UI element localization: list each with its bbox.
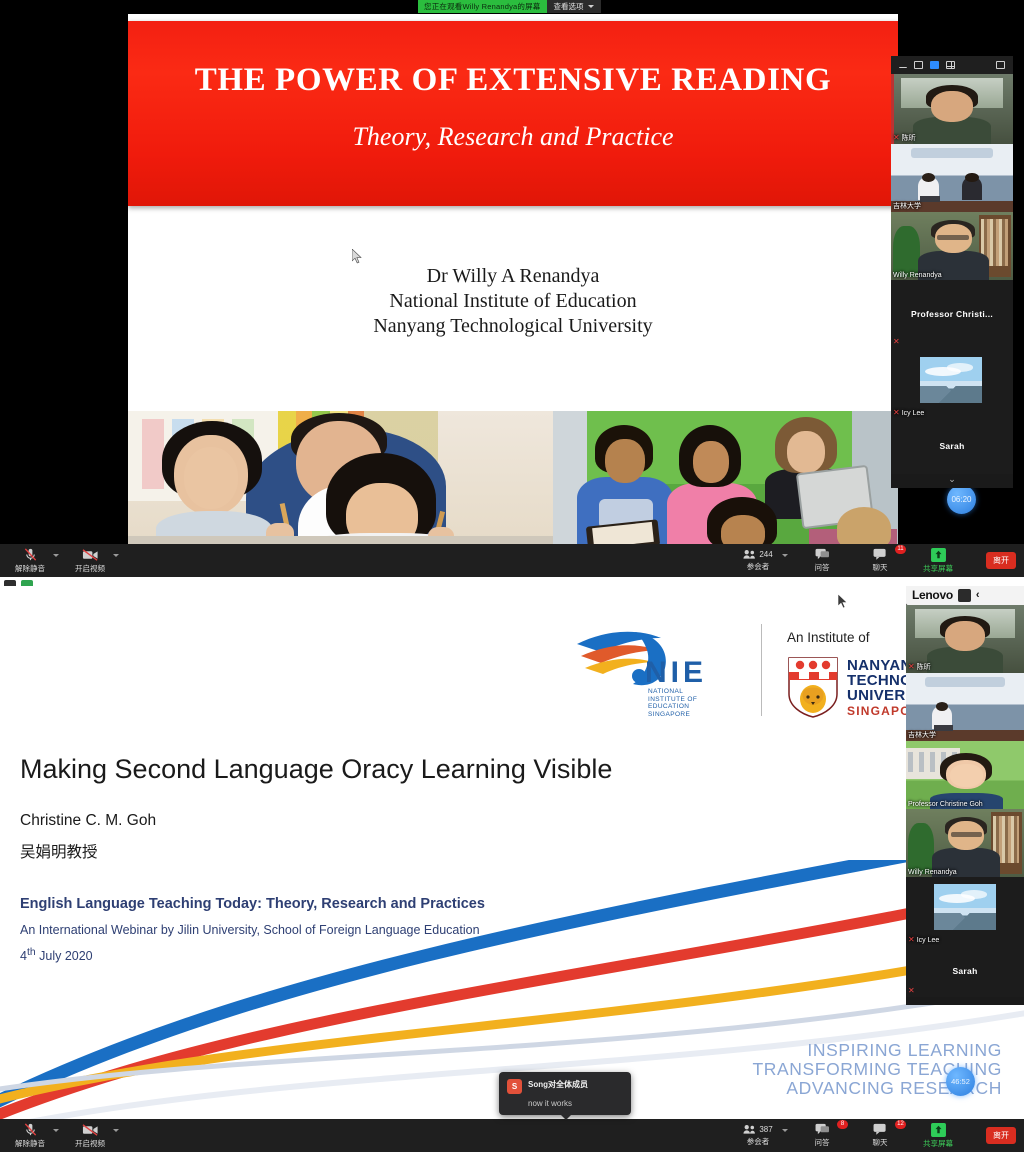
participants-label: 参会者 <box>747 561 770 572</box>
leave-meeting-button[interactable]: 离开 <box>986 552 1016 569</box>
qa-icon <box>815 548 830 561</box>
video-tile[interactable]: ✕ Icy Lee <box>891 348 1013 418</box>
presenter-org1: National Institute of Education <box>128 289 898 314</box>
slide-date: 4th July 2020 <box>20 947 93 963</box>
gallery-view-icon[interactable] <box>946 61 955 69</box>
speaker-view-icon[interactable] <box>914 61 923 69</box>
participants-button[interactable]: 387 参会者 <box>732 1119 784 1152</box>
chat-sender-name: Song对全体成员 <box>528 1079 588 1090</box>
slide-title: Making Second Language Oracy Learning Vi… <box>20 754 612 785</box>
shared-slide-oracy: NIE NATIONALINSTITUTE OFEDUCATIONSINGAPO… <box>0 586 1024 1120</box>
mic-muted-icon: ✕ <box>908 663 915 671</box>
mouse-cursor <box>838 594 849 609</box>
share-label: 共享屏幕 <box>923 563 953 574</box>
lenovo-label: Lenovo <box>912 588 953 602</box>
qa-label: 问答 <box>815 562 830 573</box>
slide-title-band <box>128 21 898 206</box>
participants-count: 244 <box>759 550 772 559</box>
start-video-button[interactable]: 开启视频 <box>70 544 110 577</box>
chat-icon <box>873 548 888 561</box>
chevron-up-icon[interactable] <box>782 1129 788 1132</box>
video-tile[interactable]: Sarah ✕ <box>906 945 1024 997</box>
video-tile-name: Professor Christi... <box>911 309 993 319</box>
video-tile-name: Willy Renandya <box>908 869 957 876</box>
institute-prefix: An Institute of <box>787 630 870 645</box>
video-tile[interactable]: Willy Renandya <box>891 212 1013 280</box>
slide-author-en: Christine C. M. Goh <box>20 812 156 830</box>
ntu-crest-icon <box>787 656 839 718</box>
nie-logo: NIE NATIONALINSTITUTE OFEDUCATIONSINGAPO… <box>575 626 740 718</box>
nie-subtitle: NATIONALINSTITUTE OFEDUCATIONSINGAPORE <box>648 688 697 718</box>
share-screen-icon <box>931 548 946 562</box>
video-muted-icon <box>82 548 99 562</box>
mic-muted-icon: ✕ <box>908 987 915 995</box>
classroom-photo-right <box>553 411 898 544</box>
chevron-up-icon[interactable] <box>53 1129 59 1132</box>
meeting-timer-badge: 46:52 <box>946 1067 975 1096</box>
presenter-org2: Nanyang Technological University <box>128 314 898 339</box>
video-tile[interactable]: Professor Christi... ✕ <box>891 280 1013 348</box>
mic-muted-icon: ✕ <box>893 134 900 142</box>
zoom-window-top: 您正在观看Willy Renandya的屏幕 查看选项 THE POWER OF… <box>0 0 1024 586</box>
meeting-toolbar-bottom: 解除静音 开启视频 387 参会者 问答 8 <box>0 1119 1024 1152</box>
slide-title: THE POWER OF EXTENSIVE READING <box>128 62 898 99</box>
view-options-label: 查看选项 <box>554 1 584 12</box>
chevron-up-icon[interactable] <box>782 554 788 557</box>
video-panel-top: ✕ 陈昕 吉林大学 Willy Renandya Professor Chris… <box>891 56 1013 488</box>
mute-label: 解除静音 <box>15 1138 45 1149</box>
view-banner-top: 您正在观看Willy Renandya的屏幕 查看选项 <box>418 0 601 13</box>
video-tile-name: ✕ Icy Lee <box>893 409 924 417</box>
video-tile-name: Willy Renandya <box>893 272 942 279</box>
slide-event-title: English Language Teaching Today: Theory,… <box>20 896 485 912</box>
popout-icon[interactable] <box>996 61 1005 69</box>
collapse-chevron-icon[interactable]: ‹ <box>976 589 980 601</box>
slide-photo-strip <box>128 411 898 544</box>
share-screen-button[interactable]: 共享屏幕 <box>918 544 958 577</box>
chat-message-text: now it works <box>528 1099 623 1108</box>
share-label: 共享屏幕 <box>923 1138 953 1149</box>
chat-unread-badge: 11 <box>895 545 906 554</box>
leave-meeting-button[interactable]: 离开 <box>986 1127 1016 1144</box>
microphone-muted-icon <box>23 547 38 562</box>
qa-label: 问答 <box>815 1137 830 1148</box>
participants-count: 387 <box>759 1125 772 1134</box>
video-tile[interactable]: ✕ 陈昕 <box>906 605 1024 673</box>
chat-label: 聊天 <box>873 562 888 573</box>
chat-sender-avatar: S <box>507 1079 522 1094</box>
qa-button[interactable]: 问答 <box>802 544 842 577</box>
share-screen-button[interactable]: 共享屏幕 <box>918 1119 958 1152</box>
participants-icon <box>743 549 756 560</box>
lenovo-glyph-icon <box>958 589 971 602</box>
video-tile[interactable]: ✕ Icy Lee <box>906 877 1024 945</box>
minimize-icon[interactable] <box>899 63 907 68</box>
qa-button[interactable]: 问答 8 <box>802 1119 842 1152</box>
view-options-button[interactable]: 查看选项 <box>547 0 601 13</box>
slide-host: An International Webinar by Jilin Univer… <box>20 923 480 937</box>
chat-unread-badge: 12 <box>895 1120 906 1129</box>
mute-button[interactable]: 解除静音 <box>10 544 50 577</box>
slide-subtitle: Theory, Research and Practice <box>128 122 898 152</box>
participants-icon <box>743 1124 756 1135</box>
video-tile[interactable]: ✕ 陈昕 <box>891 74 1013 144</box>
scroll-down-chevron-icon[interactable]: ⌄ <box>891 474 1013 485</box>
video-tile-name: Professor Christine Goh <box>908 801 983 808</box>
video-tile-name: Sarah <box>939 441 964 451</box>
video-label: 开启视频 <box>75 563 105 574</box>
chevron-down-icon <box>588 5 594 8</box>
classroom-photo-left <box>128 411 553 544</box>
video-tile[interactable]: Professor Christine Goh <box>906 741 1024 809</box>
chat-button[interactable]: 聊天 12 <box>860 1119 900 1152</box>
mouse-cursor <box>352 249 363 264</box>
video-tile[interactable]: Sarah <box>891 418 1013 474</box>
toast-tail <box>561 1115 571 1120</box>
desktop-strip-top <box>0 577 1024 586</box>
chat-button[interactable]: 聊天 11 <box>860 544 900 577</box>
video-muted-icon <box>82 1123 99 1137</box>
video-tile-name: ✕ 陈昕 <box>908 662 931 672</box>
video-tile-name: 吉林大学 <box>893 201 921 211</box>
chevron-up-icon[interactable] <box>113 1129 119 1132</box>
chat-icon <box>873 1123 888 1136</box>
lenovo-brand-overlay: Lenovo ‹ <box>906 586 1024 605</box>
meeting-toolbar-top: 解除静音 开启视频 244 参会者 问答 <box>0 544 1024 577</box>
video-tile-name: ✕ Icy Lee <box>908 936 939 944</box>
chat-label: 聊天 <box>873 1137 888 1148</box>
video-panel-bottom: Lenovo ‹ ✕ 陈昕 吉林大学 Professor Christine G… <box>906 586 1024 1005</box>
video-tile[interactable]: 吉林大学 <box>906 673 1024 741</box>
presenter-name: Dr Willy A Renandya <box>128 264 898 289</box>
mute-button[interactable]: 解除静音 <box>10 1119 50 1152</box>
mic-muted-icon: ✕ <box>908 936 915 944</box>
video-tile-name: ✕ 陈昕 <box>893 133 916 143</box>
zoom-window-bottom: NIE NATIONALINSTITUTE OFEDUCATIONSINGAPO… <box>0 586 1024 1152</box>
participants-button[interactable]: 244 参会者 <box>732 544 784 577</box>
slide-author-cn: 吴娟明教授 <box>20 840 98 862</box>
chat-notification-toast[interactable]: S Song对全体成员 now it works <box>499 1072 631 1115</box>
start-video-button[interactable]: 开启视频 <box>70 1119 110 1152</box>
chevron-up-icon[interactable] <box>113 554 119 557</box>
shared-slide-extensive-reading: THE POWER OF EXTENSIVE READING Theory, R… <box>128 14 898 549</box>
video-tile-name: 吉林大学 <box>908 730 936 740</box>
meeting-timer-badge: 06:20 <box>947 485 976 514</box>
video-tile[interactable]: 吉林大学 <box>891 144 1013 212</box>
mic-muted-icon: ✕ <box>893 338 900 346</box>
participants-label: 参会者 <box>747 1136 770 1147</box>
video-tile[interactable]: Willy Renandya <box>906 809 1024 877</box>
nie-acronym: NIE <box>645 656 707 690</box>
mute-label: 解除静音 <box>15 563 45 574</box>
microphone-muted-icon <box>23 1122 38 1137</box>
qa-unread-badge: 8 <box>837 1120 848 1129</box>
video-label: 开启视频 <box>75 1138 105 1149</box>
video-panel-view-controls <box>891 56 1013 74</box>
logo-divider <box>761 624 762 716</box>
view-banner-text: 您正在观看Willy Renandya的屏幕 <box>418 0 547 13</box>
qa-icon <box>815 1123 830 1136</box>
strip-view-icon[interactable] <box>930 61 939 69</box>
video-tile-name: Sarah <box>952 966 977 976</box>
slide-presenter: Dr Willy A Renandya National Institute o… <box>128 264 898 339</box>
mic-muted-icon: ✕ <box>893 409 900 417</box>
chevron-up-icon[interactable] <box>53 554 59 557</box>
tagline-line1: INSPIRING LEARNING <box>752 1041 1002 1060</box>
share-screen-icon <box>931 1123 946 1137</box>
